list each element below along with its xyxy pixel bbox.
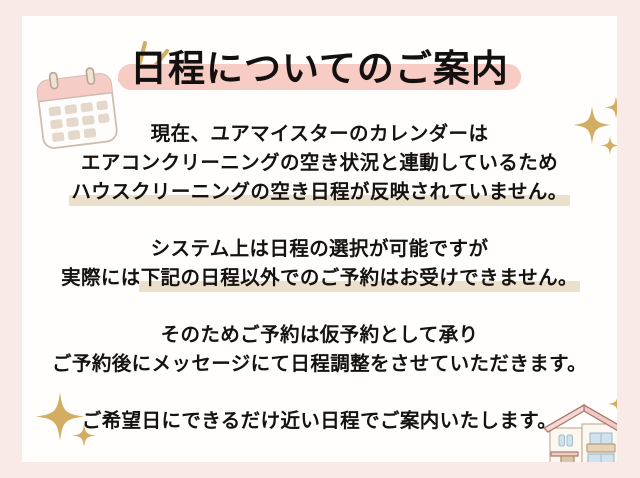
text-line: システム上は日程の選択が可能ですが (22, 235, 617, 264)
marker-highlight: 下記の日程以外でのご予約はお受けできません。 (141, 264, 578, 293)
text-line: そのためご予約は仮予約として承り (22, 321, 617, 350)
text-line: ご希望日にできるだけ近い日程でご案内いたします。 (22, 407, 617, 436)
card-panel: 日程についてのご案内 現在、ユアマイスターのカレンダーは エアコンクリーニングの… (22, 16, 617, 462)
title-block: 日程についてのご案内 (22, 44, 617, 114)
page-title: 日程についてのご案内 (130, 48, 509, 89)
paragraph-1: 現在、ユアマイスターのカレンダーは エアコンクリーニングの空き状況と連動している… (22, 120, 617, 207)
paragraph-4: ご希望日にできるだけ近い日程でご案内いたします。 (22, 407, 617, 436)
body-content: 現在、ユアマイスターのカレンダーは エアコンクリーニングの空き状況と連動している… (22, 120, 617, 436)
text-line: 現在、ユアマイスターのカレンダーは (22, 120, 617, 149)
paragraph-2: システム上は日程の選択が可能ですが 実際には下記の日程以外でのご予約はお受けでき… (22, 235, 617, 293)
text-line: エアコンクリーニングの空き状況と連動しているため (22, 149, 617, 178)
paragraph-3: そのためご予約は仮予約として承り ご予約後にメッセージにて日程調整をさせていただ… (22, 321, 617, 379)
text-line-highlighted: ハウスクリーニングの空き日程が反映されていません。 (22, 178, 617, 207)
page-title-row: 日程についてのご案内 (22, 44, 617, 94)
text-line: ご予約後にメッセージにて日程調整をさせていただきます。 (22, 350, 617, 379)
text-line-highlighted: 実際には下記の日程以外でのご予約はお受けできません。 (22, 264, 617, 293)
marker-highlight: ハウスクリーニングの空き日程が反映されていません。 (71, 178, 567, 207)
announcement-card: 日程についてのご案内 現在、ユアマイスターのカレンダーは エアコンクリーニングの… (0, 0, 640, 478)
